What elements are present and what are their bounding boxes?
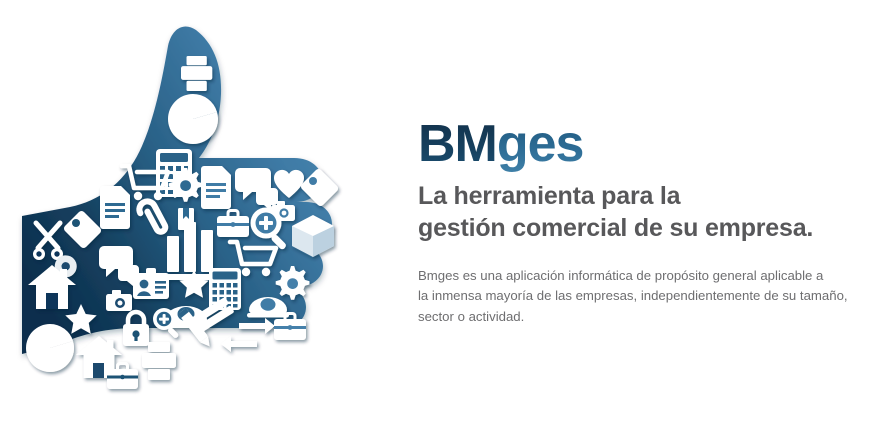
landing-page: BMges La herramienta para la gestión com… — [0, 0, 875, 426]
description-line-2: la inmensa mayoría de las empresas, inde… — [418, 286, 866, 306]
brand-prefix: BM — [418, 115, 497, 173]
gear-icon — [276, 266, 310, 300]
tagline: La herramienta para la gestión comercial… — [418, 180, 866, 244]
description-line-3: sector o actividad. — [418, 307, 866, 327]
pie-chart-3d-icon — [168, 94, 218, 144]
brand-suffix: ges — [497, 115, 584, 173]
box-3d-icon — [26, 324, 74, 372]
hero-text-column: BMges La herramienta para la gestión com… — [418, 118, 866, 327]
printer-icon — [142, 342, 176, 380]
thumbs-up-illustration — [8, 18, 368, 398]
gear-icon — [169, 168, 203, 202]
thumbs-up-icon — [8, 18, 368, 398]
tagline-line-1: La herramienta para la — [418, 180, 866, 212]
document-icon — [100, 186, 130, 229]
tagline-line-2: gestión comercial de su empresa. — [418, 212, 866, 244]
description-paragraph: Bmges es una aplicación informática de p… — [418, 266, 866, 327]
document-icon — [201, 166, 231, 209]
page-title: BMges — [418, 118, 866, 170]
description-line-1: Bmges es una aplicación informática de p… — [418, 266, 866, 286]
